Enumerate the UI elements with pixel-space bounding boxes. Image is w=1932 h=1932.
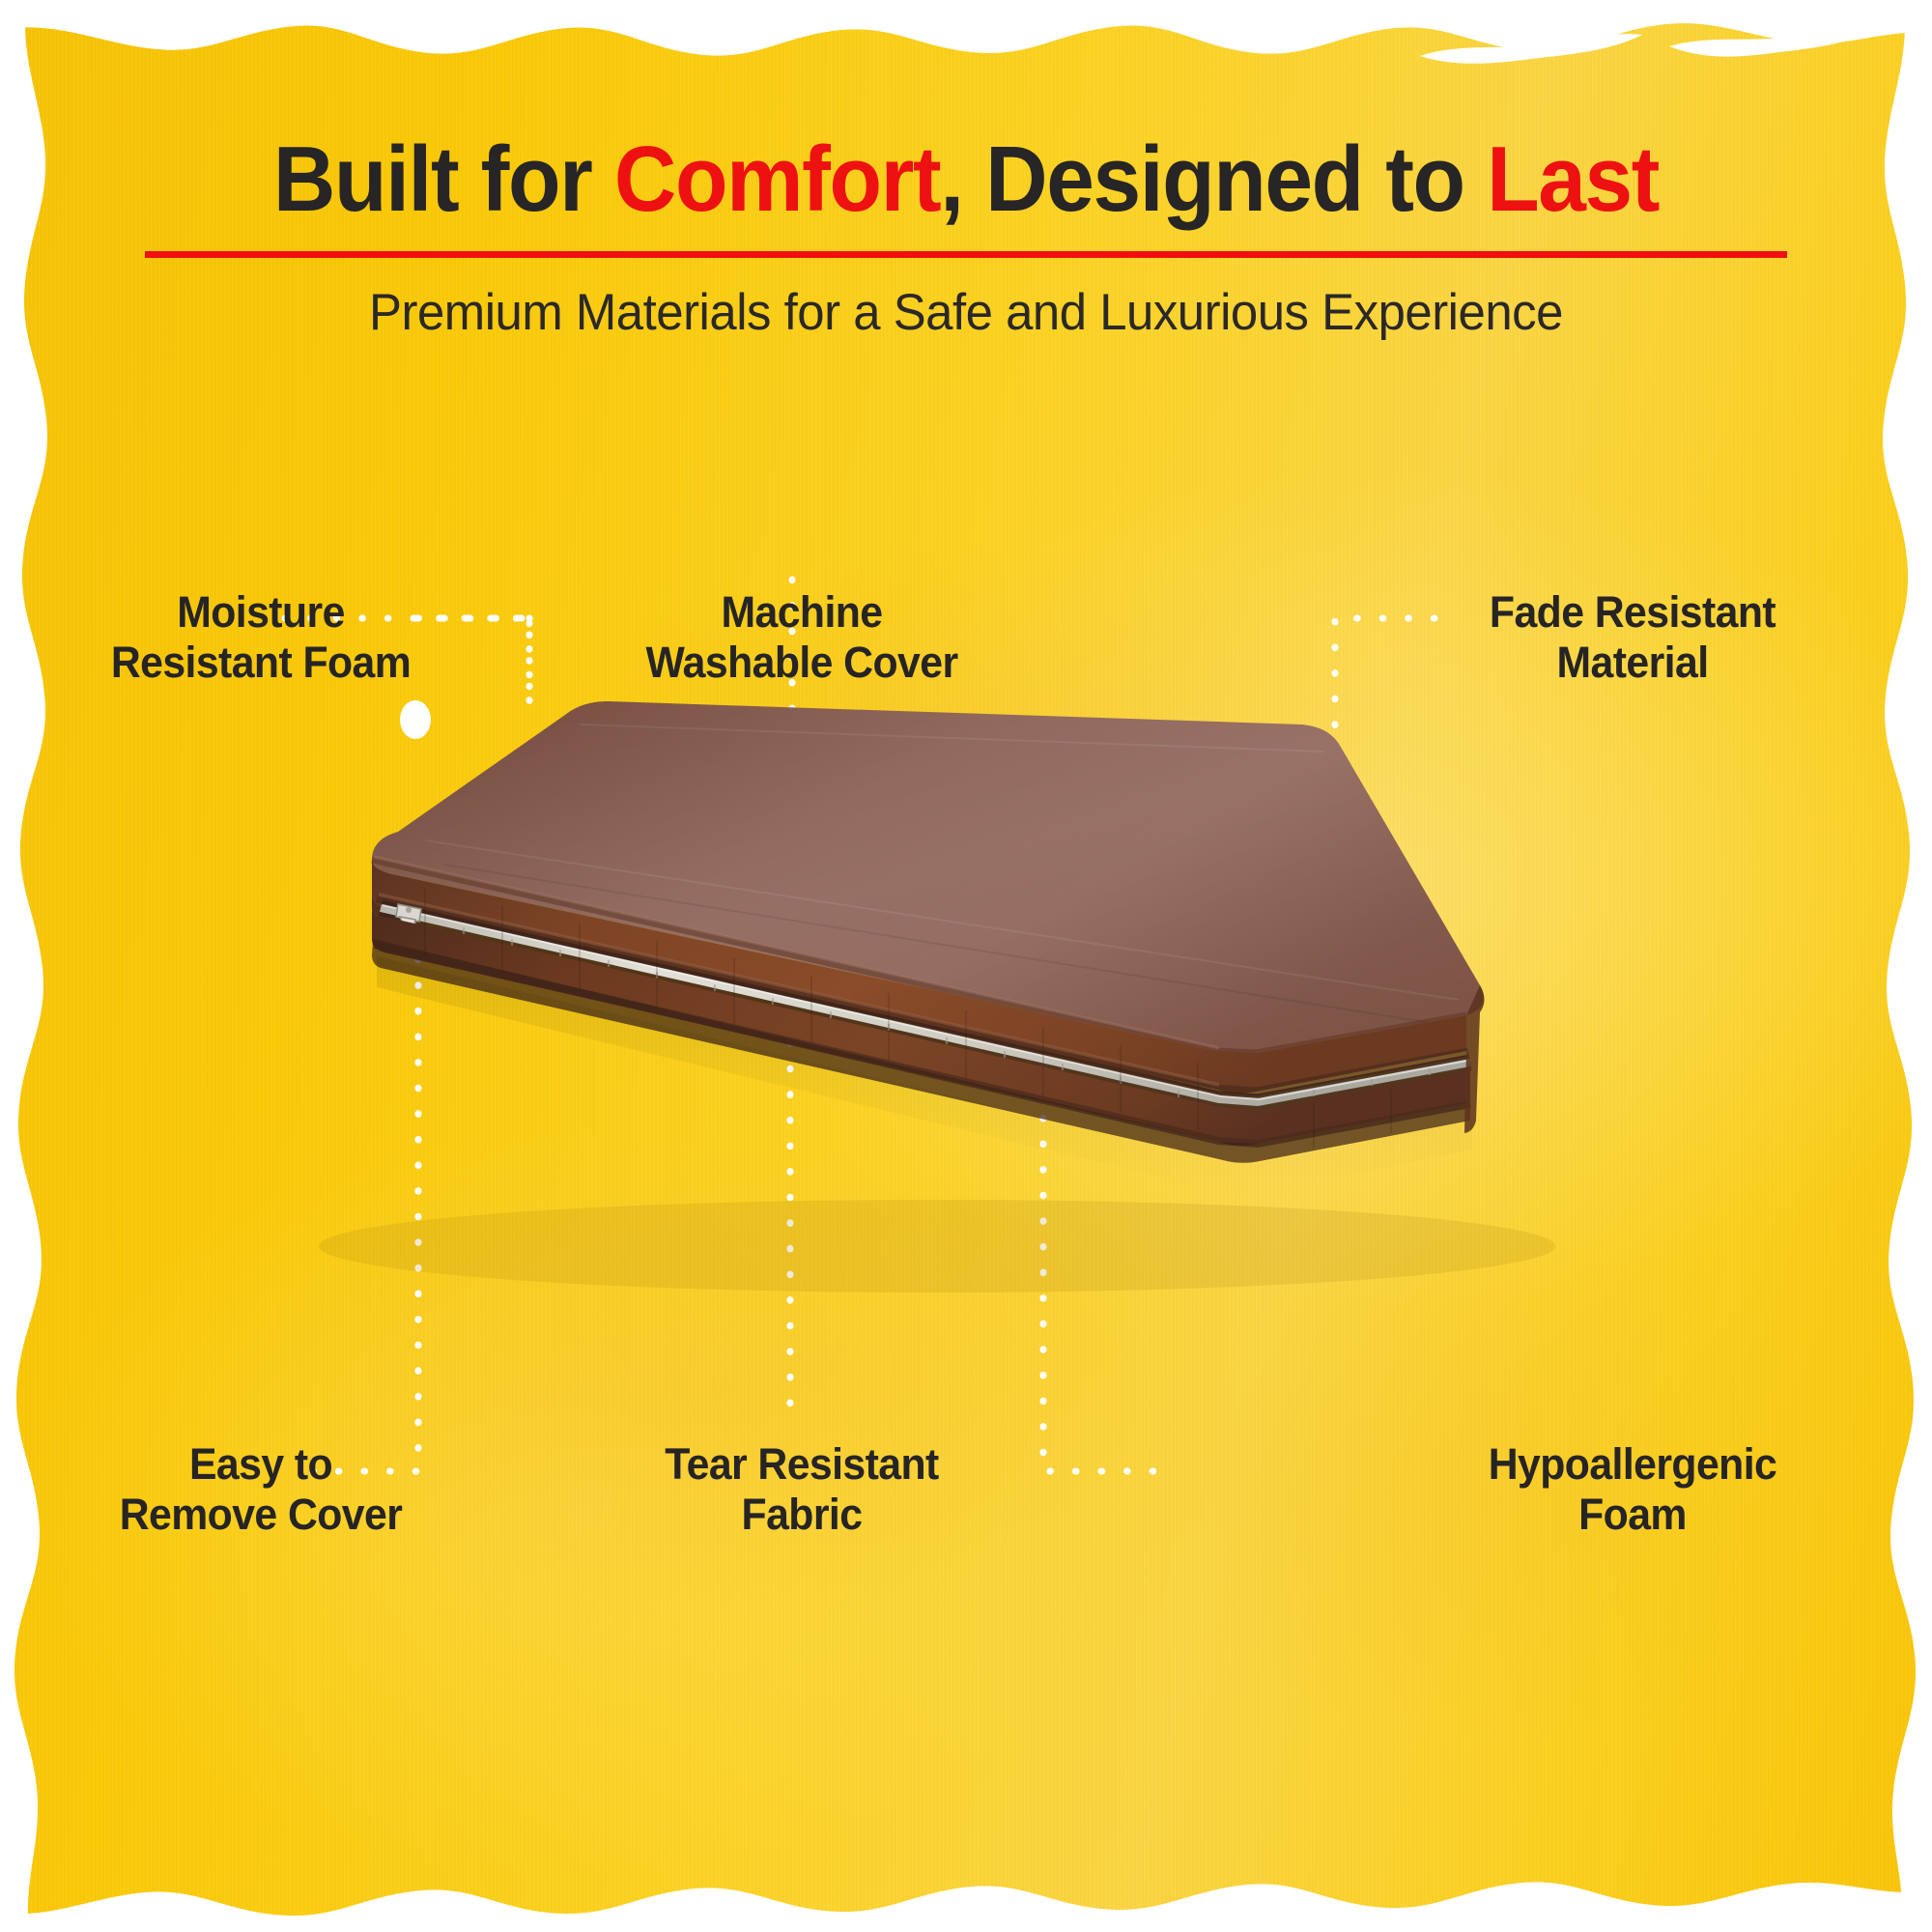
feature-label-fade-resistant-material: Fade Resistant Material: [1417, 587, 1849, 688]
title-highlight-comfort: Comfort: [614, 128, 940, 231]
page-subtitle: Premium Materials for a Safe and Luxurio…: [39, 283, 1893, 342]
feature-label-moisture-resistant-foam: Moisture Resistant Foam: [69, 587, 454, 688]
header-block: Built for Comfort, Designed to Last Prem…: [0, 133, 1932, 342]
feature-label-machine-washable-cover: Machine Washable Cover: [610, 587, 995, 688]
infographic-poster: Built for Comfort, Designed to Last Prem…: [0, 0, 1932, 1932]
page-title: Built for Comfort, Designed to Last: [68, 133, 1864, 226]
product-image-bench-cushion: [174, 667, 1700, 1323]
title-highlight-last: Last: [1487, 128, 1659, 231]
feature-label-easy-to-remove-cover: Easy to Remove Cover: [69, 1439, 454, 1540]
feature-label-hypoallergenic-foam: Hypoallergenic Foam: [1417, 1439, 1849, 1540]
title-underline-rule: [145, 251, 1787, 258]
title-segment-1: Built for: [273, 128, 614, 231]
title-segment-2: , Designed to: [940, 128, 1487, 231]
feature-label-tear-resistant-fabric: Tear Resistant Fabric: [610, 1439, 995, 1540]
